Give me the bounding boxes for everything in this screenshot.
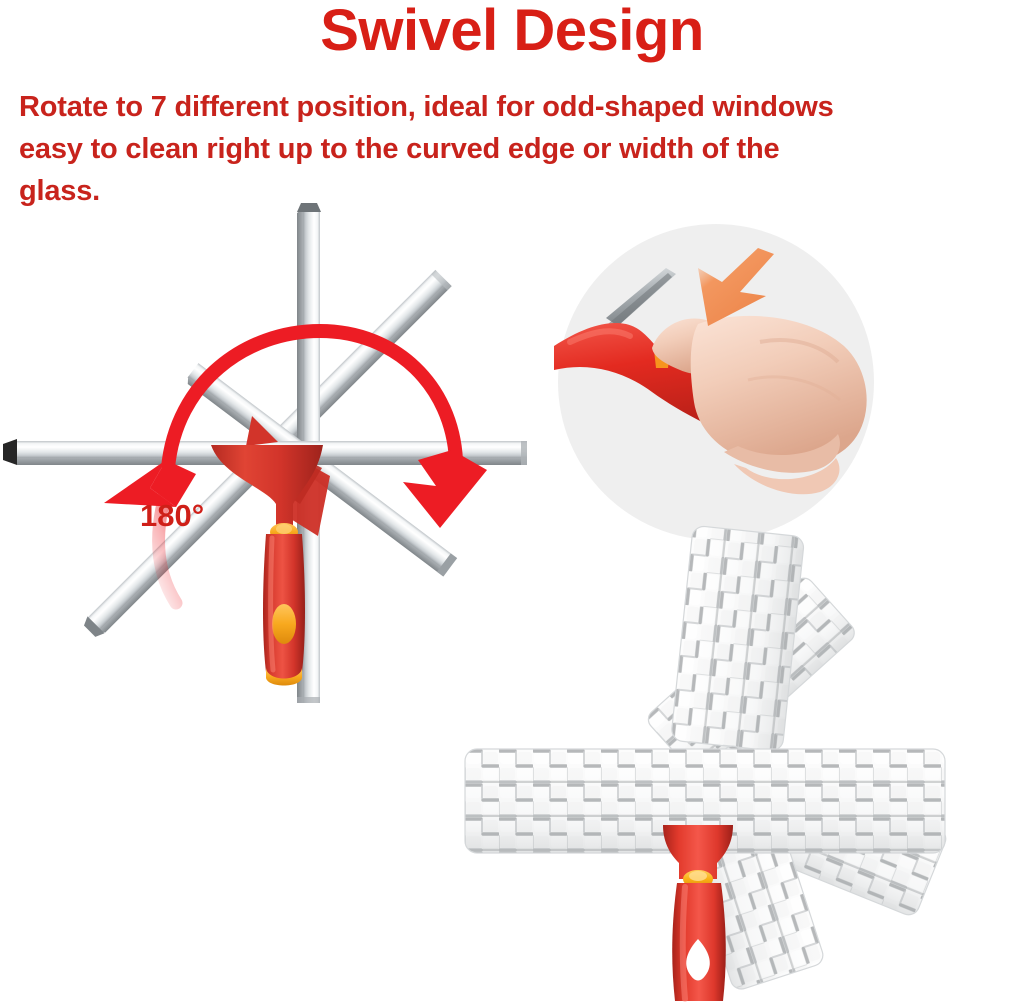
microfiber-pad-fan-assembly <box>455 535 1024 1004</box>
description-line-2: easy to clean right up to the curved edg… <box>19 128 1019 170</box>
page-title: Swivel Design <box>0 0 1024 64</box>
pad-handle <box>663 825 733 1001</box>
description-line-1: Rotate to 7 different position, ideal fo… <box>19 86 1019 128</box>
swivel-squeegee-rotation-diagram <box>0 198 530 706</box>
rotation-angle-label: 180° <box>140 498 204 534</box>
microfiber-pad <box>671 525 805 752</box>
infographic-page: Swivel Design Rotate to 7 different posi… <box>0 0 1024 1004</box>
grip-pad-icon <box>272 604 296 644</box>
blade-endcap-icon <box>3 439 17 465</box>
page-description: Rotate to 7 different position, ideal fo… <box>19 86 1019 212</box>
hand-grip-inset <box>548 220 888 550</box>
